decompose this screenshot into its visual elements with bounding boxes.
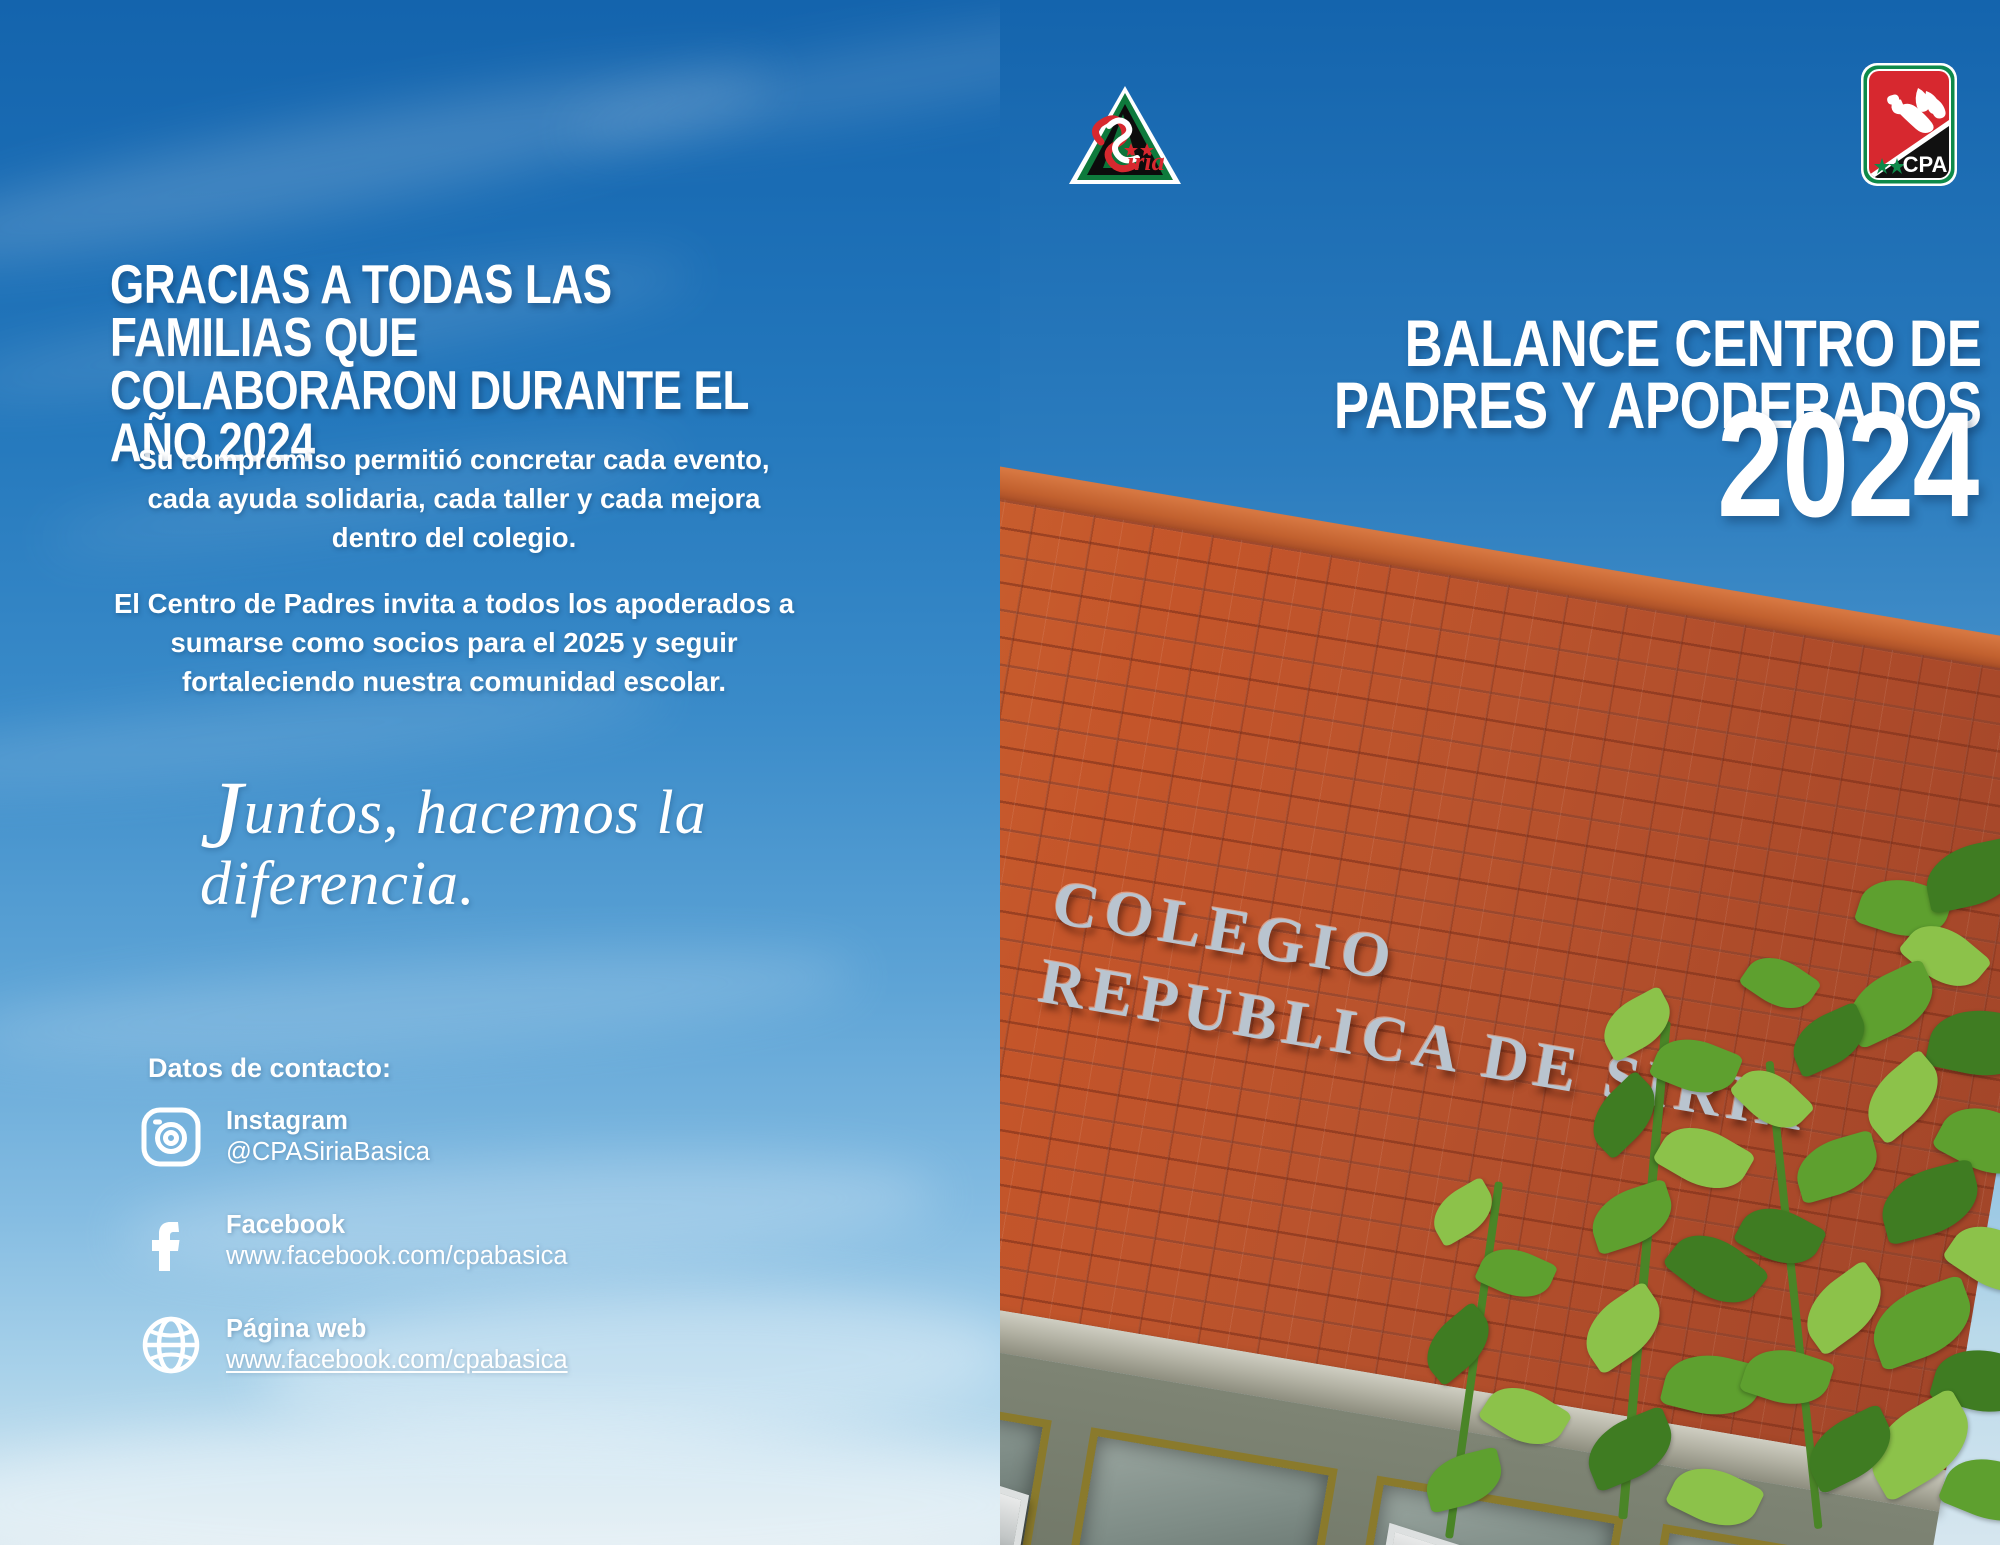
thanks-headline: GRACIAS A TODAS LAS FAMILIAS QUE COLABOR… bbox=[110, 258, 750, 469]
contact-row-instagram[interactable]: Instagram @CPASiriaBasica bbox=[140, 1098, 700, 1176]
paragraph-invitation: El Centro de Padres invita a todos los a… bbox=[104, 584, 804, 701]
contact-value: @CPASiriaBasica bbox=[226, 1137, 430, 1169]
window bbox=[1638, 1524, 1910, 1545]
window bbox=[1066, 1427, 1338, 1545]
instagram-icon bbox=[140, 1106, 202, 1168]
svg-text:CPA: CPA bbox=[1903, 152, 1948, 177]
contact-label: Página web bbox=[226, 1314, 568, 1345]
paragraph-commitment: Su compromiso permitió concretar cada ev… bbox=[104, 440, 804, 557]
report-year-text: 2024 bbox=[1717, 400, 1978, 529]
contact-row-website[interactable]: Página web www.facebook.com/cpabasica bbox=[140, 1306, 700, 1384]
left-content-column: GRACIAS A TODAS LAS FAMILIAS QUE COLABOR… bbox=[0, 0, 1000, 1545]
tagline-script: Juntos, hacemos la diferencia. bbox=[200, 778, 900, 920]
tagline-rest: untos, hacemos la diferencia. bbox=[200, 779, 707, 918]
school-building-photo: COLEGIO REPUBLICA DE SIRIA bbox=[1000, 0, 2000, 1545]
facebook-icon bbox=[140, 1210, 202, 1272]
contact-label: Facebook bbox=[226, 1210, 568, 1241]
cpa-logo: CPA bbox=[1860, 62, 1958, 187]
tagline-lead-letter: J bbox=[200, 761, 244, 868]
contact-text-instagram: Instagram @CPASiriaBasica bbox=[226, 1106, 430, 1169]
poster-canvas: COLEGIO REPUBLICA DE SIRIA bbox=[0, 0, 2000, 1545]
contact-row-facebook[interactable]: Facebook www.facebook.com/cpabasica bbox=[140, 1202, 700, 1280]
contact-value-link[interactable]: www.facebook.com/cpabasica bbox=[226, 1345, 568, 1377]
contact-label: Instagram bbox=[226, 1106, 430, 1137]
globe-icon bbox=[140, 1314, 202, 1376]
report-year: 2024 bbox=[1078, 400, 1978, 529]
contact-text-website: Página web www.facebook.com/cpabasica bbox=[226, 1314, 568, 1377]
contact-list: Instagram @CPASiriaBasica Facebook www.f… bbox=[140, 1098, 700, 1410]
siria-school-crest-logo: iria bbox=[1065, 82, 1185, 190]
contact-text-facebook: Facebook www.facebook.com/cpabasica bbox=[226, 1210, 568, 1273]
contact-value: www.facebook.com/cpabasica bbox=[226, 1241, 568, 1273]
contact-heading: Datos de contacto: bbox=[148, 1053, 391, 1084]
